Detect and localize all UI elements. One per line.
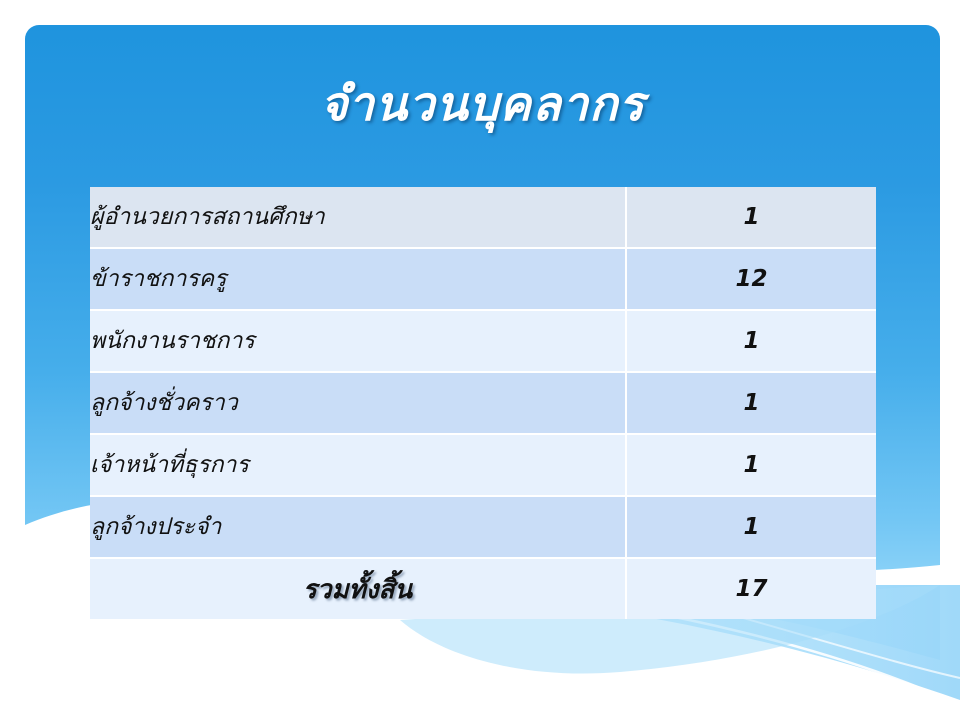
staff-table-body: ผู้อำนวยการสถานศึกษา 1 ข้าราชการครู 12 พ… — [90, 187, 876, 619]
row-label: ลูกจ้างประจำ — [90, 497, 625, 559]
staff-table-wrapper: ผู้อำนวยการสถานศึกษา 1 ข้าราชการครู 12 พ… — [90, 187, 874, 619]
row-label: เจ้าหน้าที่ธุรการ — [90, 435, 625, 497]
staff-count-table: ผู้อำนวยการสถานศึกษา 1 ข้าราชการครู 12 พ… — [90, 187, 876, 619]
row-label: พนักงานราชการ — [90, 311, 625, 373]
row-label: ผู้อำนวยการสถานศึกษา — [90, 187, 625, 249]
table-row: ข้าราชการครู 12 — [90, 249, 876, 311]
total-label: รวมทั้งสิ้น — [90, 559, 625, 619]
total-value: 17 — [625, 559, 876, 619]
table-row: ลูกจ้างชั่วคราว 1 — [90, 373, 876, 435]
row-value: 1 — [625, 311, 876, 373]
slide-canvas: จำนวนบุคลากร ผู้อำนวยการสถานศึกษา 1 ข้าร… — [0, 0, 960, 720]
table-row-total: รวมทั้งสิ้น 17 — [90, 559, 876, 619]
table-row: พนักงานราชการ 1 — [90, 311, 876, 373]
row-label: ข้าราชการครู — [90, 249, 625, 311]
table-row: เจ้าหน้าที่ธุรการ 1 — [90, 435, 876, 497]
row-label: ลูกจ้างชั่วคราว — [90, 373, 625, 435]
row-value: 1 — [625, 187, 876, 249]
page-title: จำนวนบุคลากร — [25, 66, 940, 141]
row-value: 12 — [625, 249, 876, 311]
row-value: 1 — [625, 373, 876, 435]
row-value: 1 — [625, 435, 876, 497]
row-value: 1 — [625, 497, 876, 559]
table-row: ลูกจ้างประจำ 1 — [90, 497, 876, 559]
table-row: ผู้อำนวยการสถานศึกษา 1 — [90, 187, 876, 249]
